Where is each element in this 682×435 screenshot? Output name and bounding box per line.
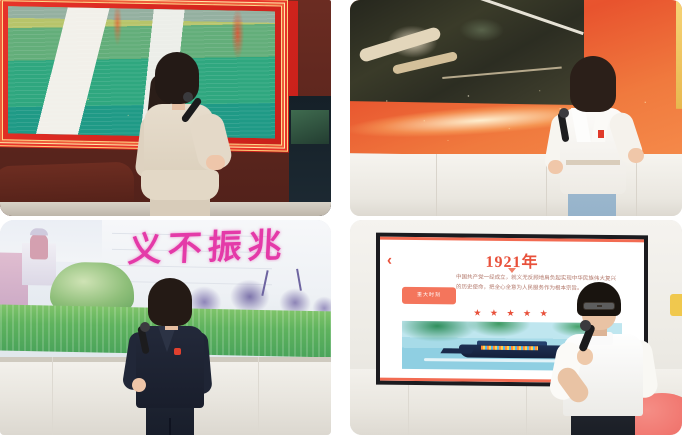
boat-lights [481, 346, 538, 350]
hair [148, 278, 192, 326]
photo-bottom-right-content: ‹ 1921年 重大时刻 中国共产党一经成立，就义无反顾地肩负起实现中华民族伟大… [350, 220, 682, 435]
slide-tag-badge: 重大时刻 [402, 287, 456, 305]
microphone-head-icon [559, 108, 569, 118]
boat-bow [440, 348, 474, 353]
collage-photo-bottom-left[interactable]: 义不振兆 [0, 220, 331, 435]
collage-photo-top-right[interactable] [350, 0, 682, 216]
industrial-bar-2 [392, 51, 458, 75]
photo-bottom-left-content: 义不振兆 [0, 220, 331, 435]
photo-collage: 义不振兆 [0, 0, 682, 435]
side-display-panel [289, 96, 331, 216]
hair [570, 56, 616, 112]
belt [566, 160, 620, 165]
microphone-head-icon [580, 320, 591, 331]
speaker-figure-bottom-right [555, 282, 667, 435]
statue-rifle [296, 269, 302, 291]
right-hand [628, 148, 644, 163]
counter-seam [52, 357, 53, 435]
right-hand [206, 155, 225, 170]
collage-photo-bottom-right[interactable]: ‹ 1921年 重大时刻 中国共产党一经成立，就义无反顾地肩负起实现中华民族伟大… [350, 220, 682, 435]
peplum-hem [141, 170, 219, 200]
caret-down-icon [508, 268, 516, 273]
wall-seam [436, 154, 437, 216]
yellow-wall-accent [670, 294, 682, 316]
eyeglasses-bridge [597, 305, 602, 307]
party-emblem-pin-icon [598, 130, 604, 138]
garden-shrub [50, 262, 134, 312]
speaker-figure-top-left [128, 52, 238, 216]
counter-seam [258, 357, 259, 435]
slide-top-border [380, 237, 644, 243]
statue-rifle [261, 270, 268, 296]
microphone-head-icon [140, 322, 150, 332]
photo-top-right-content [350, 0, 682, 216]
trouser-split [169, 418, 171, 435]
microphone-head-icon [183, 92, 193, 102]
hair [577, 282, 621, 316]
calligraphy-text: 义不振兆 [127, 220, 329, 266]
left-hand [548, 160, 563, 174]
photo-top-left-content [0, 0, 331, 216]
speaker-figure-top-right [546, 56, 654, 216]
industrial-wire-1 [478, 0, 584, 35]
speaker-figure-bottom-left [124, 278, 228, 435]
collage-photo-top-left[interactable] [0, 0, 331, 216]
left-hand [132, 378, 146, 392]
soldier-statue [30, 233, 48, 259]
party-emblem-pin-icon [174, 348, 181, 355]
